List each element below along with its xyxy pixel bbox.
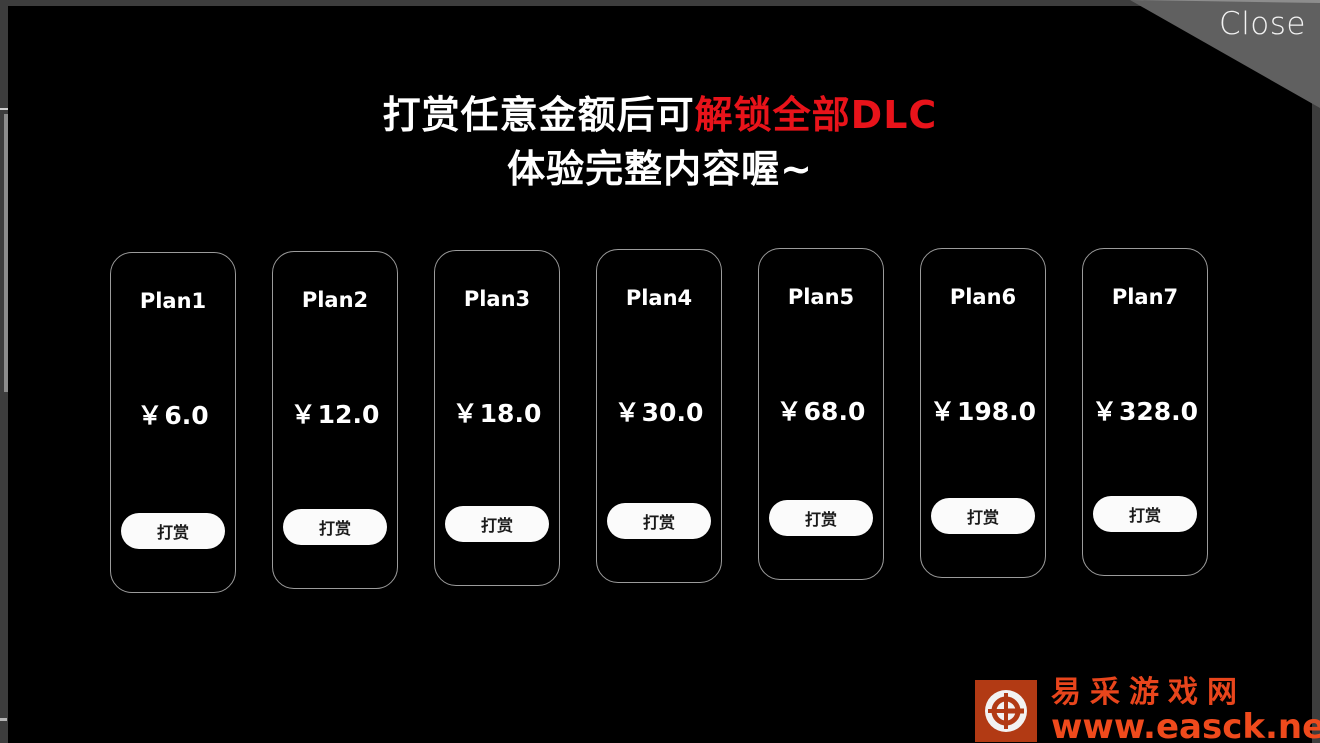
plan-title: Plan5 xyxy=(759,285,883,309)
plan-card[interactable]: Plan7￥328.0打赏 xyxy=(1082,248,1208,576)
plan-title: Plan3 xyxy=(435,287,559,311)
plan-card-list: Plan1￥6.0打赏Plan2￥12.0打赏Plan3￥18.0打赏Plan4… xyxy=(110,248,1210,593)
plan-price-amount: 30.0 xyxy=(642,398,704,427)
plan-price-amount: 12.0 xyxy=(318,400,380,429)
plan-price-amount: 6.0 xyxy=(164,401,208,430)
plan-price: ￥18.0 xyxy=(435,394,559,430)
plan-card[interactable]: Plan3￥18.0打赏 xyxy=(434,250,560,586)
plan-title: Plan6 xyxy=(921,285,1045,309)
watermark-site-name: 易采游戏网 xyxy=(1051,678,1320,708)
reward-button[interactable]: 打赏 xyxy=(931,498,1035,534)
plan-card[interactable]: Plan4￥30.0打赏 xyxy=(596,249,722,583)
plan-price: ￥68.0 xyxy=(759,392,883,428)
plan-currency-symbol: ￥ xyxy=(137,401,162,430)
plan-title: Plan7 xyxy=(1083,285,1207,309)
plan-currency-symbol: ￥ xyxy=(615,398,640,427)
plan-price-amount: 18.0 xyxy=(480,399,542,428)
plan-currency-symbol: ￥ xyxy=(453,399,478,428)
plan-title: Plan2 xyxy=(273,288,397,312)
plan-title: Plan4 xyxy=(597,286,721,310)
plan-card[interactable]: Plan5￥68.0打赏 xyxy=(758,248,884,580)
plan-price-amount: 68.0 xyxy=(804,397,866,426)
plan-card[interactable]: Plan2￥12.0打赏 xyxy=(272,251,398,589)
plan-title: Plan1 xyxy=(111,289,235,313)
watermark-site-url: www.easck.net xyxy=(1051,710,1320,743)
plan-price: ￥6.0 xyxy=(111,396,235,432)
plan-currency-symbol: ￥ xyxy=(930,397,955,426)
headline-line1-plain: 打赏任意金额后可 xyxy=(383,93,695,137)
plan-price-amount: 198.0 xyxy=(957,397,1036,426)
plan-price: ￥328.0 xyxy=(1083,392,1207,428)
reward-button[interactable]: 打赏 xyxy=(607,503,711,539)
plan-currency-symbol: ￥ xyxy=(1092,397,1117,426)
reward-button[interactable]: 打赏 xyxy=(445,506,549,542)
headline-line2: 体验完整内容喔~ xyxy=(0,142,1320,196)
page-title: 打赏任意金额后可解锁全部DLC 体验完整内容喔~ xyxy=(0,88,1320,196)
plan-currency-symbol: ￥ xyxy=(291,400,316,429)
easck-logo-icon xyxy=(975,680,1037,742)
app-root: Close 打赏任意金额后可解锁全部DLC 体验完整内容喔~ Plan1￥6.0… xyxy=(0,0,1320,743)
headline-line1-accent: 解锁全部DLC xyxy=(695,93,938,137)
watermark-text: 易采游戏网 www.easck.net xyxy=(1051,678,1320,743)
plan-price: ￥198.0 xyxy=(921,392,1045,428)
reward-button[interactable]: 打赏 xyxy=(769,500,873,536)
watermark: 易采游戏网 www.easck.net xyxy=(975,678,1320,743)
left-edge-tick-bottom xyxy=(0,718,7,721)
plan-card[interactable]: Plan6￥198.0打赏 xyxy=(920,248,1046,578)
reward-button[interactable]: 打赏 xyxy=(121,513,225,549)
close-button[interactable]: Close xyxy=(1219,2,1306,46)
plan-price: ￥30.0 xyxy=(597,393,721,429)
reward-button[interactable]: 打赏 xyxy=(1093,496,1197,532)
plan-currency-symbol: ￥ xyxy=(777,397,802,426)
reward-button[interactable]: 打赏 xyxy=(283,509,387,545)
plan-card[interactable]: Plan1￥6.0打赏 xyxy=(110,252,236,593)
plan-price-amount: 328.0 xyxy=(1119,397,1198,426)
plan-price: ￥12.0 xyxy=(273,395,397,431)
